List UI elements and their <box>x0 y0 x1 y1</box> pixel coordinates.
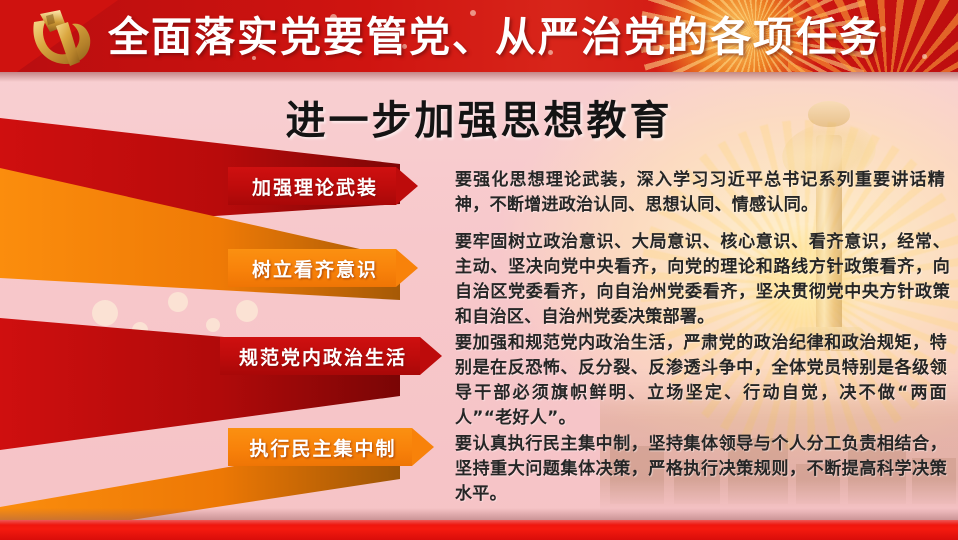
bottom-shadow <box>0 508 958 520</box>
arrow-label-1-text: 加强理论武装 <box>252 173 378 200</box>
header-title: 全面落实党要管党、从严治党的各项任务 <box>108 6 882 68</box>
arrow-tip-icon <box>412 428 434 466</box>
body-paragraph-4: 要认真执行民主集中制，坚持集体领导与个人分工负责相结合，坚持重大问题集体决策，严… <box>455 432 947 507</box>
body-paragraph-2: 要牢固树立政治意识、大局意识、核心意识、看齐意识，经常、主动、坚决向党中央看齐，… <box>455 230 950 330</box>
arrow-label-4-text: 执行民主集中制 <box>249 434 396 461</box>
header-shadow <box>0 72 958 82</box>
body-paragraph-1: 要强化思想理论武装，深入学习习近平总书记系列重要讲话精神，不断增进政治认同、思想… <box>455 168 945 218</box>
arrow-tip-icon <box>420 337 442 375</box>
arrow-label-1[interactable]: 加强理论武装 <box>228 167 418 205</box>
arrow-label-2[interactable]: 树立看齐意识 <box>228 249 418 287</box>
arrow-label-3-text: 规范党内政治生活 <box>239 343 407 370</box>
arrow-label-3[interactable]: 规范党内政治生活 <box>220 337 442 375</box>
slide-canvas: 全面落实党要管党、从严治党的各项任务 进一步加强思想教育 加强理论武装 树立看齐… <box>0 0 958 540</box>
arrow-tip-icon <box>396 249 418 287</box>
arrow-label-4[interactable]: 执行民主集中制 <box>228 428 434 466</box>
bottom-bar-gloss <box>0 520 958 525</box>
page-title: 进一步加强思想教育 <box>0 88 958 146</box>
arrow-tip-icon <box>396 167 418 205</box>
party-emblem-icon <box>20 6 98 74</box>
body-paragraph-3: 要加强和规范党内政治生活，严肃党的政治纪律和政治规矩，特别是在反恐怖、反分裂、反… <box>455 331 947 431</box>
arrow-label-2-text: 树立看齐意识 <box>252 255 378 282</box>
